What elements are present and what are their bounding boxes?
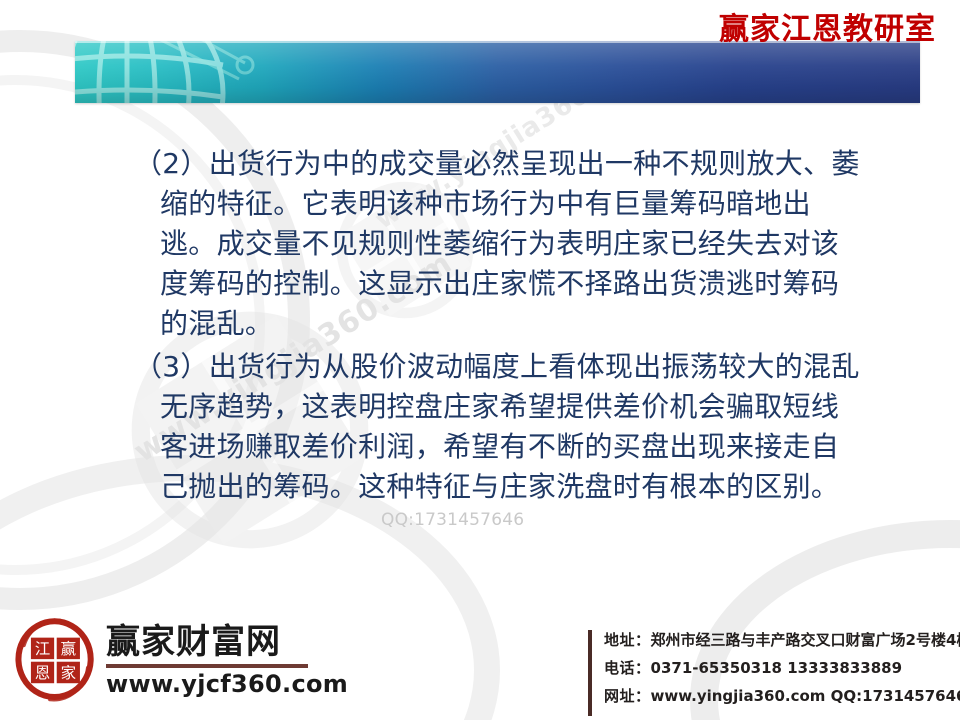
paragraph-3-text: 出货行为从股价波动幅度上看体现出振荡较大的混乱无序趋势，这表明控盘庄家希望提供差… bbox=[160, 350, 860, 503]
banner-sheen bbox=[75, 41, 920, 103]
footer-web-row: 网址：www.yingjia360.com QQ:1731457646 bbox=[604, 682, 960, 710]
seal-char-top-left: 江 bbox=[35, 640, 50, 658]
paragraph-2: （2）出货行为中的成交量必然呈现出一种不规则放大、萎缩的特征。它表明该种市场行为… bbox=[134, 144, 864, 344]
footer-address-value: 郑州市经三路与丰产路交叉口财富广场2号楼4楼C户 bbox=[651, 631, 960, 649]
qq-note: QQ:1731457646 bbox=[381, 510, 524, 530]
brand-divider bbox=[106, 664, 308, 668]
brand-name: 赢家财富网 bbox=[106, 623, 348, 661]
paragraph-2-text: 出货行为中的成交量必然呈现出一种不规则放大、萎缩的特征。它表明该种市场行为中有巨… bbox=[160, 147, 860, 340]
brand-logo[interactable]: 江 赢 恩 家 赢家财富网 www.yjcf360.com bbox=[12, 614, 348, 706]
footer-vertical-divider bbox=[588, 630, 592, 716]
paragraph-3: （3）出货行为从股价波动幅度上看体现出振荡较大的混乱无序趋势，这表明控盘庄家希望… bbox=[134, 347, 864, 507]
brand-text-block: 赢家财富网 www.yjcf360.com bbox=[106, 623, 348, 698]
slide-canvas: 赢家江恩教研室 bbox=[0, 0, 960, 720]
footer-bar: 江 赢 恩 家 赢家财富网 www.yjcf360.com 地址：郑州市经三路与… bbox=[0, 602, 960, 720]
footer-phone-label: 电话： bbox=[604, 659, 651, 677]
paragraph-2-marker: （2） bbox=[134, 147, 209, 180]
footer-phone-row: 电话：0371-65350318 13333833889 bbox=[604, 654, 960, 682]
footer-web-value[interactable]: www.yingjia360.com QQ:1731457646 bbox=[651, 687, 960, 705]
header-banner bbox=[75, 41, 920, 103]
seal-char-bottom-left: 恩 bbox=[35, 664, 50, 682]
paragraph-3-marker: （3） bbox=[134, 350, 209, 383]
brand-website[interactable]: www.yjcf360.com bbox=[106, 670, 348, 698]
seal-char-top-right: 赢 bbox=[61, 640, 76, 658]
footer-web-label: 网址： bbox=[604, 687, 651, 705]
footer-phone-value: 0371-65350318 13333833889 bbox=[651, 659, 903, 677]
footer-address-row: 地址：郑州市经三路与丰产路交叉口财富广场2号楼4楼C户 bbox=[604, 626, 960, 654]
seal-char-bottom-right: 家 bbox=[61, 664, 76, 682]
footer-contact-info: 地址：郑州市经三路与丰产路交叉口财富广场2号楼4楼C户 电话：0371-6535… bbox=[604, 626, 960, 710]
page-title: 赢家江恩教研室 bbox=[719, 4, 936, 48]
slide-body-text: （2）出货行为中的成交量必然呈现出一种不规则放大、萎缩的特征。它表明该种市场行为… bbox=[134, 144, 864, 510]
company-seal-icon: 江 赢 恩 家 bbox=[12, 614, 98, 706]
footer-address-label: 地址： bbox=[604, 631, 651, 649]
